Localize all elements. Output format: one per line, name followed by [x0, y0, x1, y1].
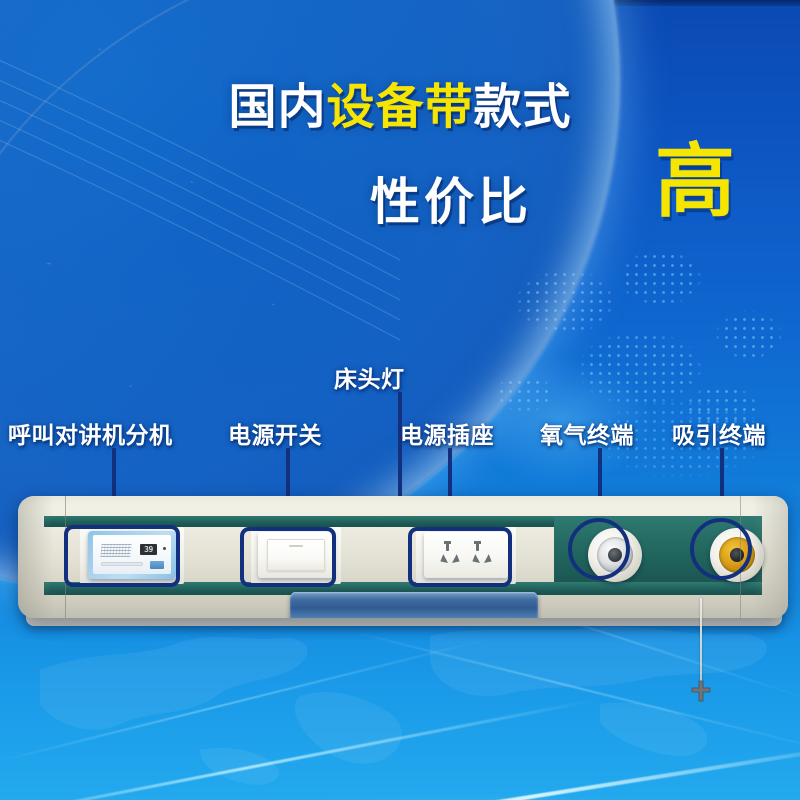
callout-label-suction-terminal: 吸引终端	[672, 416, 766, 450]
bed-lamp-diffuser	[290, 592, 538, 618]
pull-cord[interactable]	[700, 598, 702, 686]
highlight-circle-oxygen	[568, 518, 630, 580]
callout-label-power-switch: 电源开关	[228, 416, 322, 450]
highlight-box-intercom	[64, 525, 180, 587]
callout-label-bed-lamp: 床头灯	[334, 360, 405, 394]
callout-label-intercom: 呼叫对讲机分机	[8, 416, 173, 450]
highlight-box-power-socket	[408, 527, 512, 587]
highlight-box-power-switch	[240, 527, 336, 587]
panel-end-cap-left	[18, 496, 66, 618]
callout-label-oxygen-terminal: 氧气终端	[540, 416, 634, 450]
headline-value-ratio: 性价比	[370, 162, 532, 234]
halftone-world-dots-lower	[560, 390, 800, 510]
callout-label-power-socket: 电源插座	[400, 416, 494, 450]
pull-cord-handle-icon[interactable]	[690, 680, 712, 702]
headline-high-char: 高	[655, 142, 735, 222]
poster-canvas: 国内设备带款式 性价比 高 呼叫对讲机分机 电源开关 床头灯 电源插座 氧气终端…	[0, 0, 800, 800]
highlight-circle-suction	[690, 518, 752, 580]
